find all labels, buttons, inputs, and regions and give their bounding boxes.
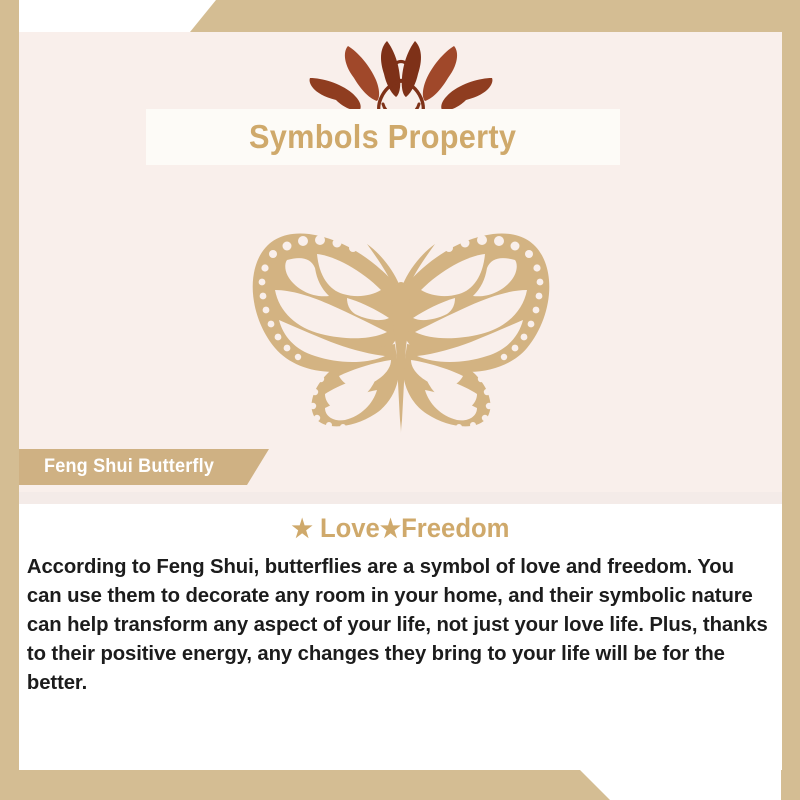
subtitle-word-freedom: Freedom [401, 513, 509, 543]
star-icon-left: ★ [292, 515, 313, 543]
section-title-band: Symbols Property [146, 109, 620, 165]
page-title: Symbols Property [249, 118, 516, 156]
feng-shui-butterfly-tag: Feng Shui Butterfly [19, 449, 269, 485]
top-accent-band [0, 0, 800, 32]
description-paragraph: According to Feng Shui, butterflies are … [19, 552, 774, 697]
tag-label: Feng Shui Butterfly [44, 456, 214, 478]
butterfly-icon [221, 224, 581, 444]
star-icon-mid: ★ [380, 515, 401, 543]
description-panel: ★ Love★Freedom According to Feng Shui, b… [19, 504, 782, 770]
subtitle-word-love: Love [320, 513, 380, 543]
left-accent-band [0, 0, 19, 800]
bottom-accent-band [0, 770, 800, 800]
product-infographic-page: BUDDHA STONES [0, 0, 800, 800]
subtitle: ★ Love★Freedom [38, 504, 763, 544]
right-accent-band [781, 0, 800, 800]
